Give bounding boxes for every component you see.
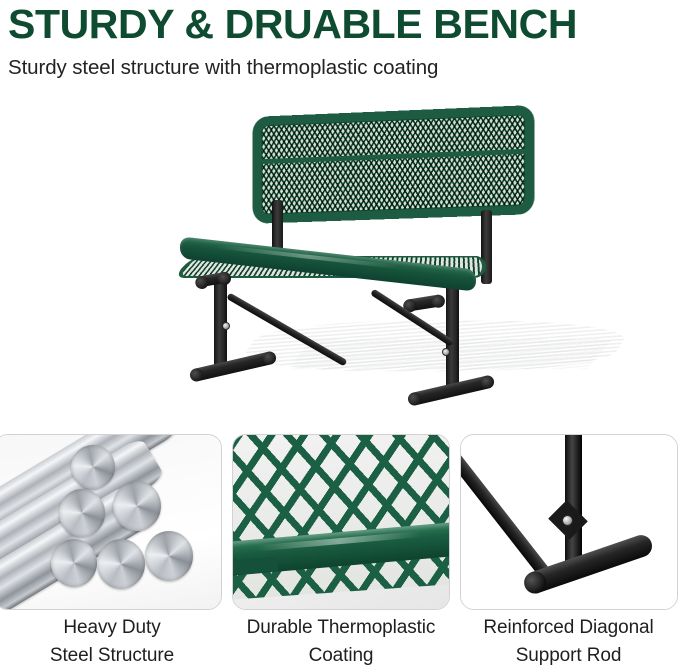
- caption-steel-structure: Heavy Duty Steel Structure: [4, 614, 220, 670]
- steel-bar-end: [51, 539, 97, 587]
- caption-line-1: Heavy Duty: [4, 614, 220, 642]
- feature-card-thermoplastic-coating[interactable]: [232, 434, 450, 610]
- backrest-post-right: [481, 210, 492, 284]
- connector-bolt: [562, 515, 573, 526]
- page-title: STURDY & DRUABLE BENCH: [8, 2, 679, 46]
- bench-foot-front-left: [190, 350, 277, 382]
- steel-bar-end: [71, 445, 115, 489]
- support-rod-bolt-left: [222, 322, 230, 330]
- hero-product-image: [0, 92, 679, 432]
- support-rod-bolt-right: [442, 348, 450, 356]
- feature-card-steel-structure[interactable]: [0, 434, 222, 610]
- feature-captions: Heavy Duty Steel Structure Durable Therm…: [0, 614, 679, 670]
- seat-end-cap-right: [403, 294, 444, 312]
- caption-thermoplastic-coating: Durable Thermoplastic Coating: [228, 614, 454, 670]
- steel-bar-end: [113, 481, 161, 531]
- caption-support-rod: Reinforced Diagonal Support Rod: [458, 614, 679, 670]
- steel-bar-end: [97, 539, 145, 589]
- header: STURDY & DRUABLE BENCH Sturdy steel stru…: [0, 0, 679, 92]
- caption-line-1: Reinforced Diagonal: [458, 614, 679, 642]
- caption-line-2: Support Rod: [458, 642, 679, 670]
- page-subtitle: Sturdy steel structure with thermoplasti…: [8, 55, 679, 80]
- steel-bar-end: [145, 531, 193, 581]
- product-infographic: STURDY & DRUABLE BENCH Sturdy steel stru…: [0, 0, 679, 670]
- mesh-corner-frame: [233, 488, 279, 578]
- feature-card-support-rod[interactable]: [460, 434, 678, 610]
- steel-bar-end: [59, 489, 105, 537]
- steel-bars-image: [0, 435, 221, 609]
- bench-illustration: [0, 92, 679, 432]
- caption-line-2: Steel Structure: [4, 642, 220, 670]
- diagonal-rod: [460, 441, 556, 585]
- caption-line-1: Durable Thermoplastic: [228, 614, 454, 642]
- support-rod-image: [461, 435, 677, 609]
- thermoplastic-mesh-image: [233, 435, 449, 609]
- bench-backrest-mesh: [253, 105, 535, 224]
- bench-leg-front-left: [214, 272, 227, 368]
- caption-line-2: Coating: [228, 642, 454, 670]
- feature-cards: [0, 434, 679, 610]
